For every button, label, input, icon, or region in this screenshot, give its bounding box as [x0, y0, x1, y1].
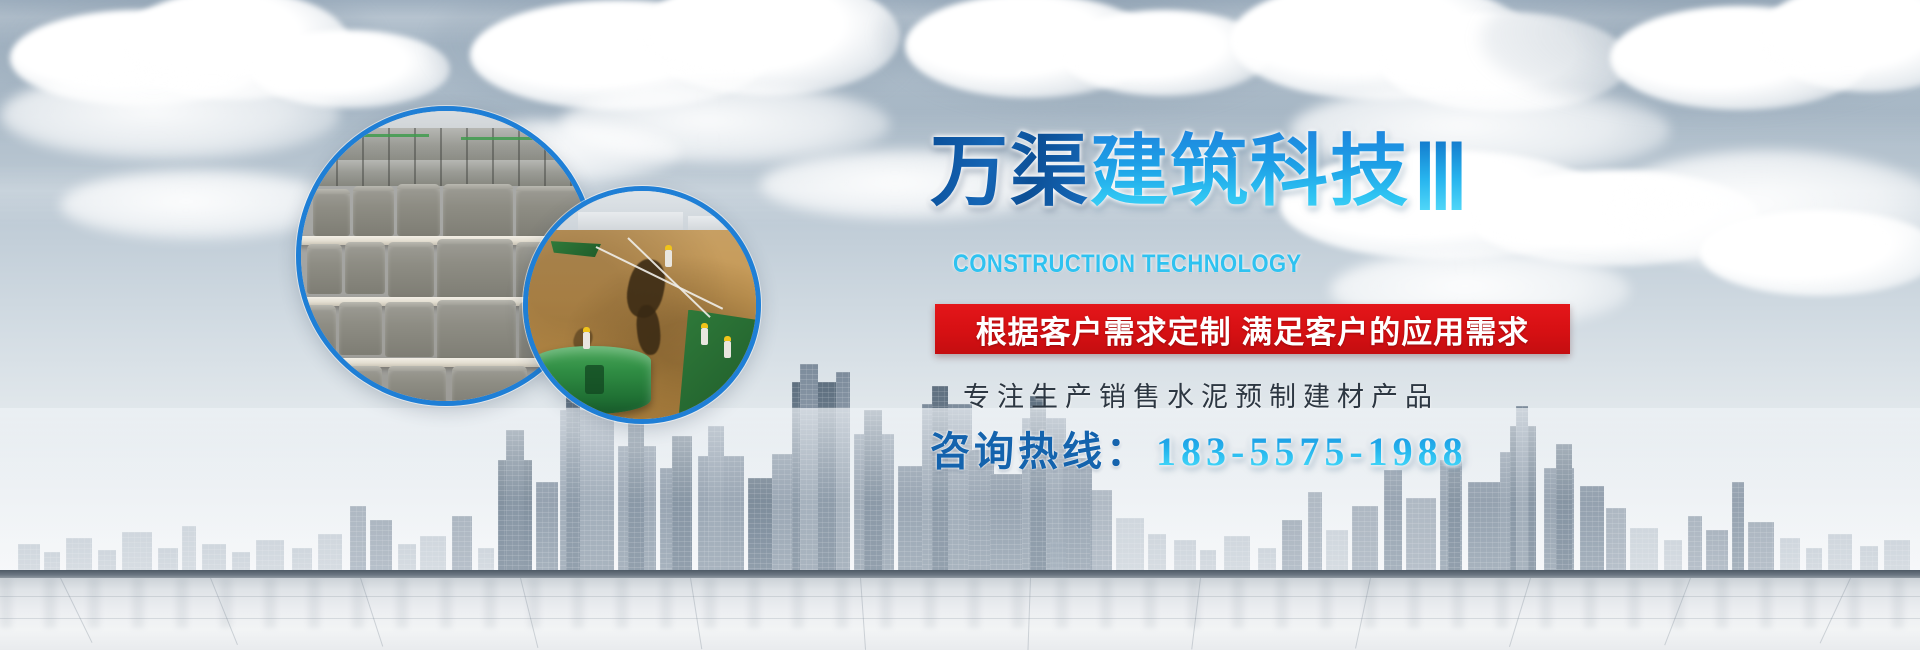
company-subtitle-english: CONSTRUCTION TECHNOLOGY	[953, 250, 1302, 279]
tank-installation-image	[528, 191, 756, 419]
hotline-number[interactable]: 183-5575-1988	[1156, 429, 1468, 474]
product-photo-tank-installation	[523, 186, 761, 424]
company-name-primary: 万渠	[930, 127, 1090, 215]
hotline-label: 咨询热线：	[930, 430, 1150, 474]
accent-bars-icon: |||	[1414, 132, 1461, 210]
company-name-secondary: 建筑科技	[1090, 127, 1410, 215]
banner-content: 万渠建筑科技||| CONSTRUCTION TECHNOLOGY 根据客户需求…	[930, 132, 1590, 210]
hotline-block: 咨询热线：183-5575-1988	[930, 432, 1468, 472]
ground-plane	[0, 578, 1920, 650]
promo-banner: 万渠建筑科技||| CONSTRUCTION TECHNOLOGY 根据客户需求…	[0, 0, 1920, 650]
ground-reflection	[0, 578, 1920, 628]
slogan-text: 专注生产销售水泥预制建材产品	[963, 375, 1439, 414]
highlight-bar: 根据客户需求定制 满足客户的应用需求	[935, 304, 1570, 354]
highlight-bar-text: 根据客户需求定制 满足客户的应用需求	[976, 307, 1530, 352]
company-title: 万渠建筑科技|||	[930, 132, 1590, 210]
